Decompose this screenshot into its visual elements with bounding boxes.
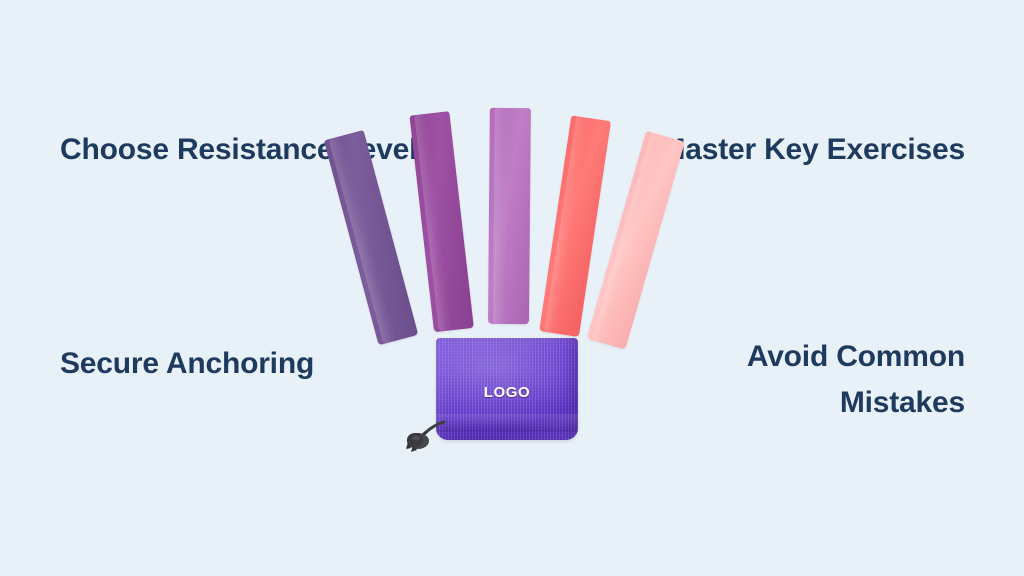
label-avoid-common-mistakes: Avoid Common Mistakes <box>625 334 965 426</box>
resistance-band-dark-purple <box>324 130 418 345</box>
pouch-fold-shadow <box>436 414 578 432</box>
drawstring-pouch: LOGO <box>436 338 578 440</box>
resistance-band-violet <box>409 111 473 332</box>
pouch-logo-text: LOGO <box>436 384 578 401</box>
drawstring-cord-lock <box>404 418 450 456</box>
product-photo: LOGO <box>352 100 672 470</box>
infographic-slide: Choose Resistance Level Master Key Exerc… <box>0 0 1024 576</box>
cord-lock-icon <box>404 418 450 456</box>
resistance-band-orchid <box>488 108 531 324</box>
label-master-key-exercises: Master Key Exercises <box>635 127 965 173</box>
